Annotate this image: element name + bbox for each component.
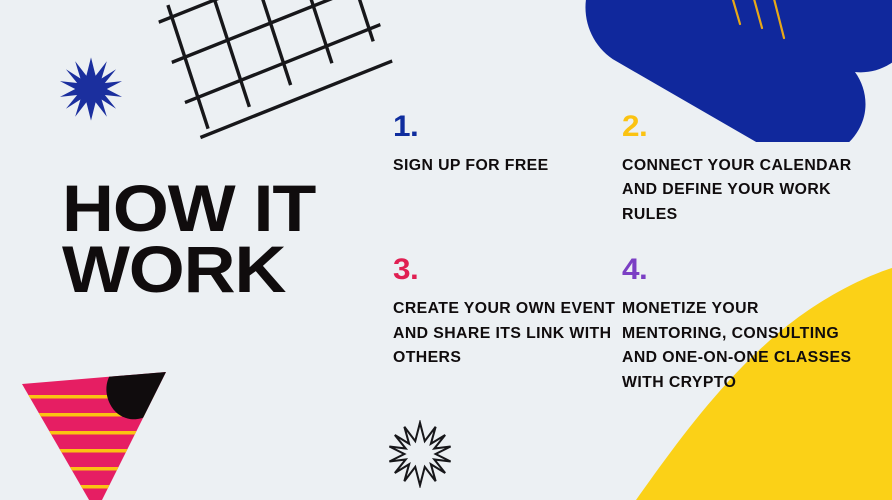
step-number-4: 4. — [622, 255, 875, 285]
step-text-2: CONNECT YOUR CALENDAR AND DEFINE YOUR WO… — [622, 154, 868, 227]
rotated-line-grid — [148, 0, 397, 143]
page-title: HOW IT WORK — [62, 178, 389, 299]
step-number-2: 2. — [622, 112, 875, 142]
step-item-3: 3. CREATE YOUR OWN EVENT AND SHARE ITS L… — [393, 255, 622, 395]
blue-starburst — [58, 56, 124, 122]
striped-triangle — [8, 362, 190, 500]
step-number-1: 1. — [393, 112, 633, 142]
step-item-2: 2. CONNECT YOUR CALENDAR AND DEFINE YOUR… — [622, 112, 863, 227]
step-text-4: MONETIZE YOUR MENTORING, CONSULTING AND … — [622, 297, 868, 395]
step-item-1: 1. SIGN UP FOR FREE — [393, 112, 622, 227]
step-text-1: SIGN UP FOR FREE — [393, 154, 627, 178]
step-text-3: CREATE YOUR OWN EVENT AND SHARE ITS LINK… — [393, 297, 627, 370]
step-number-3: 3. — [393, 255, 633, 285]
steps-list: 1. SIGN UP FOR FREE 2. CONNECT YOUR CALE… — [393, 112, 863, 395]
step-item-4: 4. MONETIZE YOUR MENTORING, CONSULTING A… — [622, 255, 863, 395]
poster-canvas: HOW IT WORK 1. SIGN UP FOR FREE 2. CONNE… — [0, 0, 892, 500]
outline-starburst — [386, 420, 454, 488]
